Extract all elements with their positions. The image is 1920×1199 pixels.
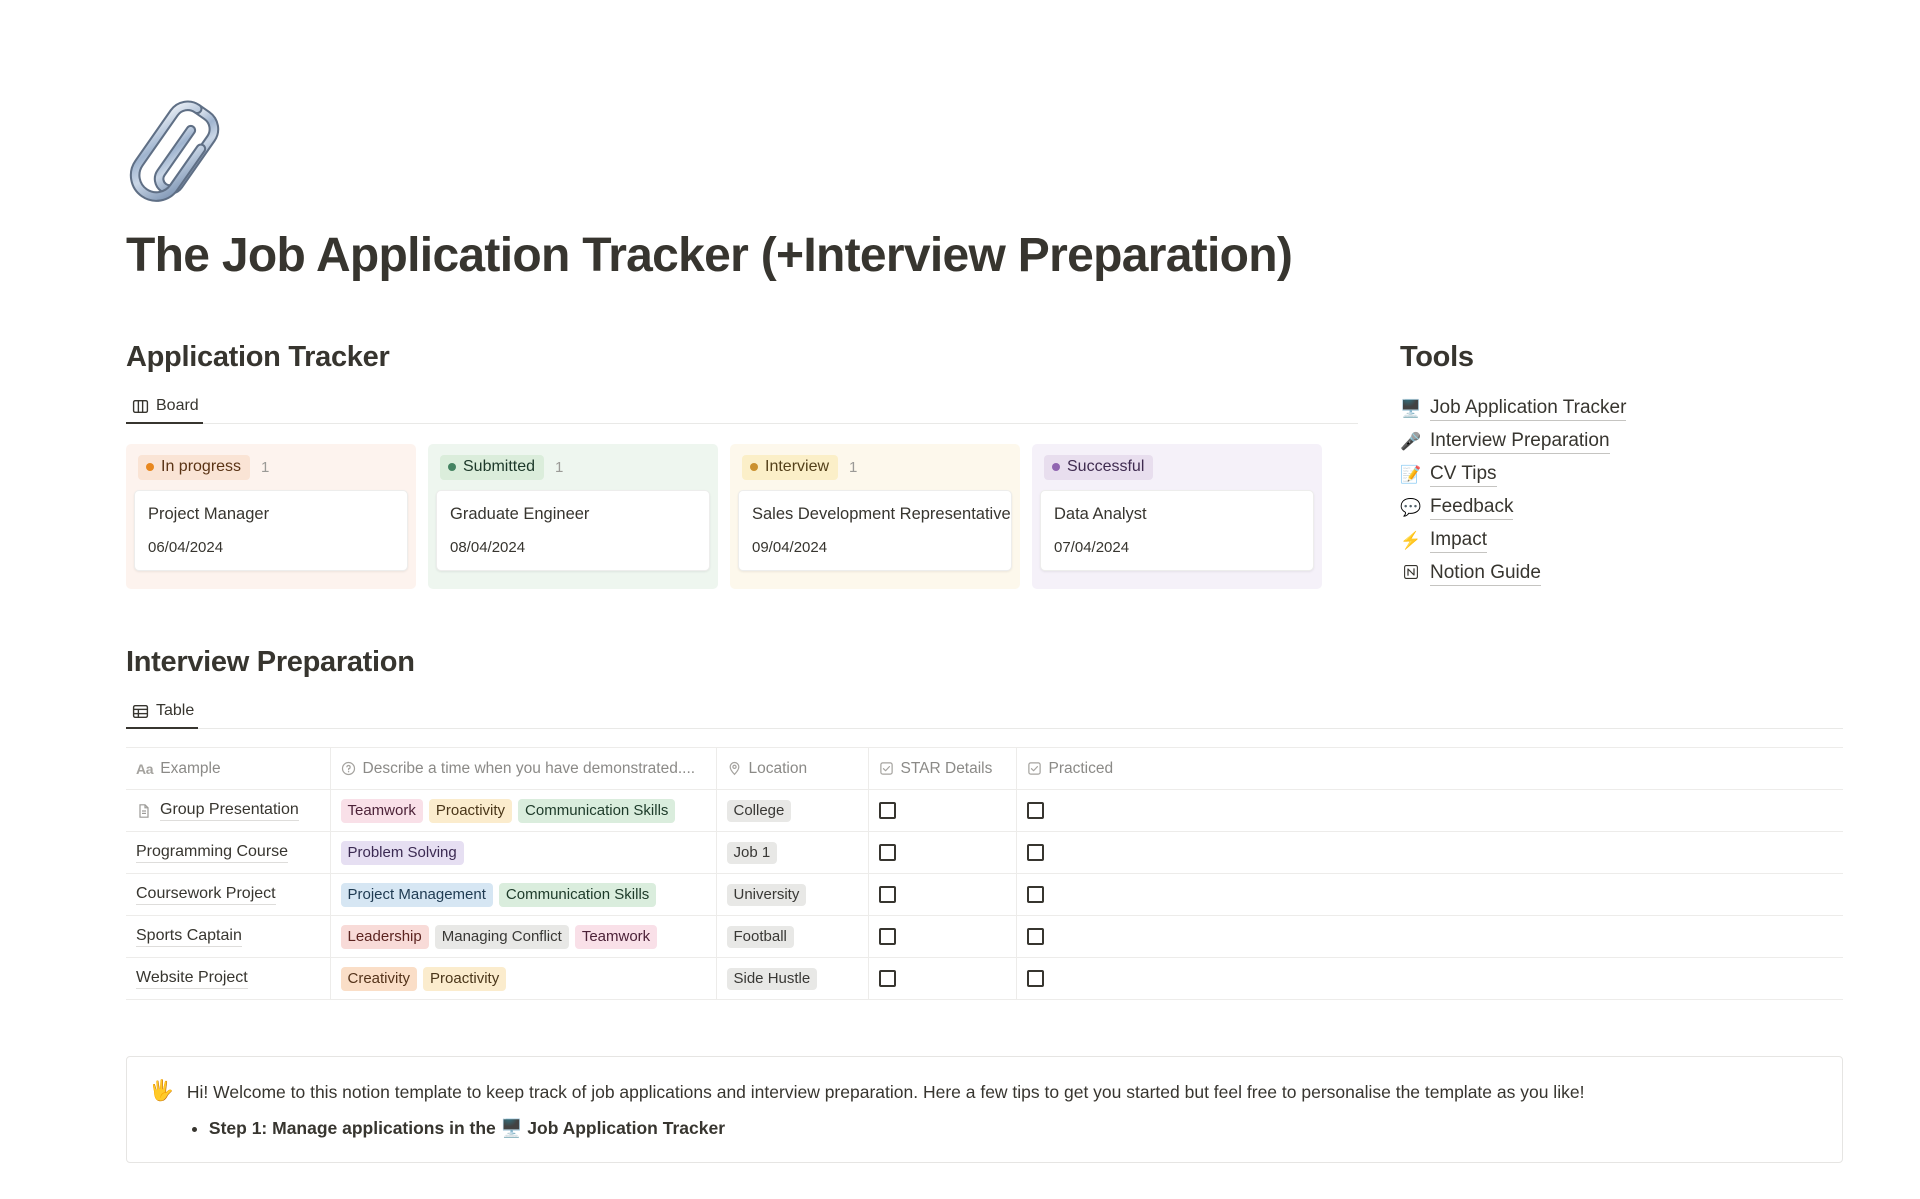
tab-board[interactable]: Board — [126, 397, 209, 423]
callout-bullet: Step 1: Manage applications in the 🖥️ Jo… — [209, 1113, 1585, 1144]
tool-label: Impact — [1430, 529, 1487, 553]
tool-label: Interview Preparation — [1430, 430, 1610, 454]
application-tracker-heading: Application Tracker — [126, 341, 1358, 374]
board-column-header: Successful — [1040, 454, 1314, 480]
status-label: Successful — [1067, 457, 1144, 477]
welcome-callout: 🖐 Hi! Welcome to this notion template to… — [126, 1056, 1843, 1163]
cell-skills[interactable]: Problem Solving — [330, 832, 716, 874]
tool-link-impact[interactable]: ⚡ Impact — [1400, 524, 1858, 557]
column-header-label: STAR Details — [901, 760, 993, 778]
status-label: Interview — [765, 457, 829, 477]
row-title: Website Project — [136, 969, 248, 989]
row-title: Sports Captain — [136, 927, 242, 947]
skill-tag: Teamwork — [341, 799, 423, 823]
status-dot-icon — [750, 463, 758, 471]
cell-practiced[interactable] — [1016, 832, 1843, 874]
cell-skills[interactable]: Teamwork Proactivity Communication Skill… — [330, 790, 716, 832]
callout-body: Hi! Welcome to this notion template to k… — [187, 1077, 1585, 1144]
interview-view-tabs: Table — [126, 695, 1843, 729]
tool-link-interview-preparation[interactable]: 🎤 Interview Preparation — [1400, 425, 1858, 458]
notion-logo-icon — [1400, 564, 1421, 583]
row-title: Programming Course — [136, 843, 288, 863]
skill-tag: Communication Skills — [518, 799, 675, 823]
checkbox-icon — [1027, 761, 1042, 776]
status-dot-icon — [448, 463, 456, 471]
cell-location[interactable]: University — [716, 874, 868, 916]
status-badge-in-progress[interactable]: In progress — [138, 455, 250, 480]
column-header-label: Example — [160, 760, 220, 778]
skill-tag: Teamwork — [575, 925, 657, 949]
practiced-checkbox[interactable] — [1027, 802, 1044, 819]
column-header-star-details[interactable]: STAR Details — [868, 748, 1016, 790]
cell-star-details[interactable] — [868, 790, 1016, 832]
star-details-checkbox[interactable] — [879, 928, 896, 945]
board-card-title: Sales Development Representative — [752, 503, 998, 525]
board-card-title: Data Analyst — [1054, 503, 1300, 525]
cell-practiced[interactable] — [1016, 958, 1843, 1000]
column-header-example[interactable]: Aa Example — [126, 748, 330, 790]
cell-example[interactable]: Sports Captain — [126, 916, 330, 958]
star-details-checkbox[interactable] — [879, 886, 896, 903]
tool-label: Job Application Tracker — [1430, 397, 1626, 421]
tools-column: Tools 🖥️ Job Application Tracker 🎤 Inter… — [1358, 341, 1858, 590]
location-tag: Job 1 — [727, 842, 778, 864]
location-tag: University — [727, 884, 807, 906]
board-card[interactable]: Data Analyst 07/04/2024 — [1040, 490, 1314, 571]
tab-board-label: Board — [156, 397, 199, 415]
interview-preparation-section: Interview Preparation Table — [126, 646, 1920, 1000]
desktop-computer-icon: 🖥️ — [1400, 400, 1421, 417]
column-header-label: Practiced — [1049, 760, 1114, 778]
cell-practiced[interactable] — [1016, 916, 1843, 958]
board-card-title: Graduate Engineer — [450, 503, 696, 525]
cell-example[interactable]: Programming Course — [126, 832, 330, 874]
location-tag: Football — [727, 926, 794, 948]
board-card-date: 09/04/2024 — [752, 539, 998, 556]
tracker-view-tabs: Board — [126, 390, 1358, 424]
cell-skills[interactable]: Creativity Proactivity — [330, 958, 716, 1000]
table-row: Coursework Project Project Management Co… — [126, 874, 1843, 916]
tool-link-notion-guide[interactable]: Notion Guide — [1400, 557, 1858, 590]
cell-location[interactable]: College — [716, 790, 868, 832]
table-row: Sports Captain Leadership Managing Confl… — [126, 916, 1843, 958]
cell-practiced[interactable] — [1016, 874, 1843, 916]
board-column-count: 1 — [555, 459, 563, 476]
raised-hand-icon: 🖐 — [149, 1077, 174, 1105]
interview-table: Aa Example — [126, 747, 1843, 1000]
status-label: In progress — [161, 457, 241, 477]
board-column-header: Submitted 1 — [436, 454, 710, 480]
board-card-date: 08/04/2024 — [450, 539, 696, 556]
column-header-label: Location — [749, 760, 808, 778]
row-title: Group Presentation — [160, 801, 299, 821]
location-tag: Side Hustle — [727, 968, 818, 990]
cell-location[interactable]: Football — [716, 916, 868, 958]
tool-label: CV Tips — [1430, 463, 1497, 487]
cell-location[interactable]: Job 1 — [716, 832, 868, 874]
status-label: Submitted — [463, 457, 535, 477]
cell-example[interactable]: Group Presentation — [126, 790, 330, 832]
tool-label: Feedback — [1430, 496, 1513, 520]
table-row: Website Project Creativity Proactivity — [126, 958, 1843, 1000]
document-icon — [136, 803, 152, 819]
board-column-successful: Successful Data Analyst 07/04/2024 — [1032, 444, 1322, 589]
page-title: The Job Application Tracker (+Interview … — [126, 228, 1920, 283]
skill-tag: Leadership — [341, 925, 429, 949]
cell-location[interactable]: Side Hustle — [716, 958, 868, 1000]
column-header-location[interactable]: Location — [716, 748, 868, 790]
paperclip-icon — [126, 96, 244, 214]
notion-page: The Job Application Tracker (+Interview … — [0, 0, 1920, 1199]
skill-tag: Creativity — [341, 967, 418, 991]
tab-table-label: Table — [156, 702, 194, 720]
skill-tag: Managing Conflict — [435, 925, 569, 949]
page-content: The Job Application Tracker (+Interview … — [0, 0, 1920, 1163]
column-header-describe[interactable]: Describe a time when you have demonstrat… — [330, 748, 716, 790]
board-column-submitted: Submitted 1 Graduate Engineer 08/04/2024 — [428, 444, 718, 589]
callout-text: Hi! Welcome to this notion template to k… — [187, 1082, 1585, 1102]
status-badge-successful[interactable]: Successful — [1044, 455, 1153, 480]
practiced-checkbox[interactable] — [1027, 970, 1044, 987]
skill-tag: Problem Solving — [341, 841, 464, 865]
board-card[interactable]: Graduate Engineer 08/04/2024 — [436, 490, 710, 571]
cell-example[interactable]: Coursework Project — [126, 874, 330, 916]
table-header-row: Aa Example — [126, 748, 1843, 790]
board-card-date: 07/04/2024 — [1054, 539, 1300, 556]
board-card[interactable]: Sales Development Representative 09/04/2… — [738, 490, 1012, 571]
checkbox-icon — [879, 761, 894, 776]
board-column-count: 1 — [261, 459, 269, 476]
tool-link-job-application-tracker[interactable]: 🖥️ Job Application Tracker — [1400, 392, 1858, 425]
cell-star-details[interactable] — [868, 874, 1016, 916]
tool-link-feedback[interactable]: 💬 Feedback — [1400, 491, 1858, 524]
table-row: Programming Course Problem Solving Job 1 — [126, 832, 1843, 874]
board-column-header: In progress 1 — [134, 454, 408, 480]
column-header-label: Describe a time when you have demonstrat… — [363, 760, 696, 778]
kanban-board: In progress 1 Project Manager 06/04/2024 — [126, 444, 1358, 589]
tools-heading: Tools — [1400, 341, 1858, 374]
tools-list: 🖥️ Job Application Tracker 🎤 Interview P… — [1400, 392, 1858, 590]
tool-label: Notion Guide — [1430, 562, 1541, 586]
board-column-interview: Interview 1 Sales Development Representa… — [730, 444, 1020, 589]
interview-table-wrapper: Aa Example — [126, 747, 1843, 1000]
microphone-icon: 🎤 — [1400, 433, 1421, 450]
row-title: Coursework Project — [136, 885, 276, 905]
status-badge-interview[interactable]: Interview — [742, 455, 838, 480]
board-icon — [132, 398, 149, 415]
skill-tag: Project Management — [341, 883, 493, 907]
left-column: Application Tracker Board — [126, 341, 1358, 589]
question-mark-icon — [341, 761, 356, 776]
practiced-checkbox[interactable] — [1027, 886, 1044, 903]
practiced-checkbox[interactable] — [1027, 928, 1044, 945]
skill-tag: Communication Skills — [499, 883, 656, 907]
board-column-in-progress: In progress 1 Project Manager 06/04/2024 — [126, 444, 416, 589]
aa-title-icon: Aa — [136, 761, 153, 777]
board-card[interactable]: Project Manager 06/04/2024 — [134, 490, 408, 571]
speech-balloon-icon: 💬 — [1400, 499, 1421, 516]
skill-tag: Proactivity — [423, 967, 506, 991]
interview-preparation-heading: Interview Preparation — [126, 646, 1920, 679]
board-column-count: 1 — [849, 459, 857, 476]
map-pin-icon — [727, 761, 742, 776]
cell-skills[interactable]: Project Management Communication Skills — [330, 874, 716, 916]
tab-table[interactable]: Table — [126, 702, 204, 728]
cell-star-details[interactable] — [868, 832, 1016, 874]
table-row: Group Presentation Teamwork Proactivity … — [126, 790, 1843, 832]
location-tag: College — [727, 800, 792, 822]
tool-link-cv-tips[interactable]: 📝 CV Tips — [1400, 458, 1858, 491]
cell-skills[interactable]: Leadership Managing Conflict Teamwork — [330, 916, 716, 958]
table-icon — [132, 703, 149, 720]
memo-icon: 📝 — [1400, 466, 1421, 483]
cell-example[interactable]: Website Project — [126, 958, 330, 1000]
lightning-icon: ⚡ — [1400, 532, 1421, 549]
cell-star-details[interactable] — [868, 958, 1016, 1000]
star-details-checkbox[interactable] — [879, 844, 896, 861]
cell-practiced[interactable] — [1016, 790, 1843, 832]
column-header-practiced[interactable]: Practiced — [1016, 748, 1843, 790]
star-details-checkbox[interactable] — [879, 970, 896, 987]
cell-star-details[interactable] — [868, 916, 1016, 958]
star-details-checkbox[interactable] — [879, 802, 896, 819]
skill-tag: Proactivity — [429, 799, 512, 823]
board-card-date: 06/04/2024 — [148, 539, 394, 556]
board-column-header: Interview 1 — [738, 454, 1012, 480]
page-columns: Application Tracker Board — [126, 341, 1920, 590]
status-dot-icon — [146, 463, 154, 471]
board-card-title: Project Manager — [148, 503, 394, 525]
practiced-checkbox[interactable] — [1027, 844, 1044, 861]
callout-bullet-list: Step 1: Manage applications in the 🖥️ Jo… — [187, 1113, 1585, 1144]
status-badge-submitted[interactable]: Submitted — [440, 455, 544, 480]
status-dot-icon — [1052, 463, 1060, 471]
